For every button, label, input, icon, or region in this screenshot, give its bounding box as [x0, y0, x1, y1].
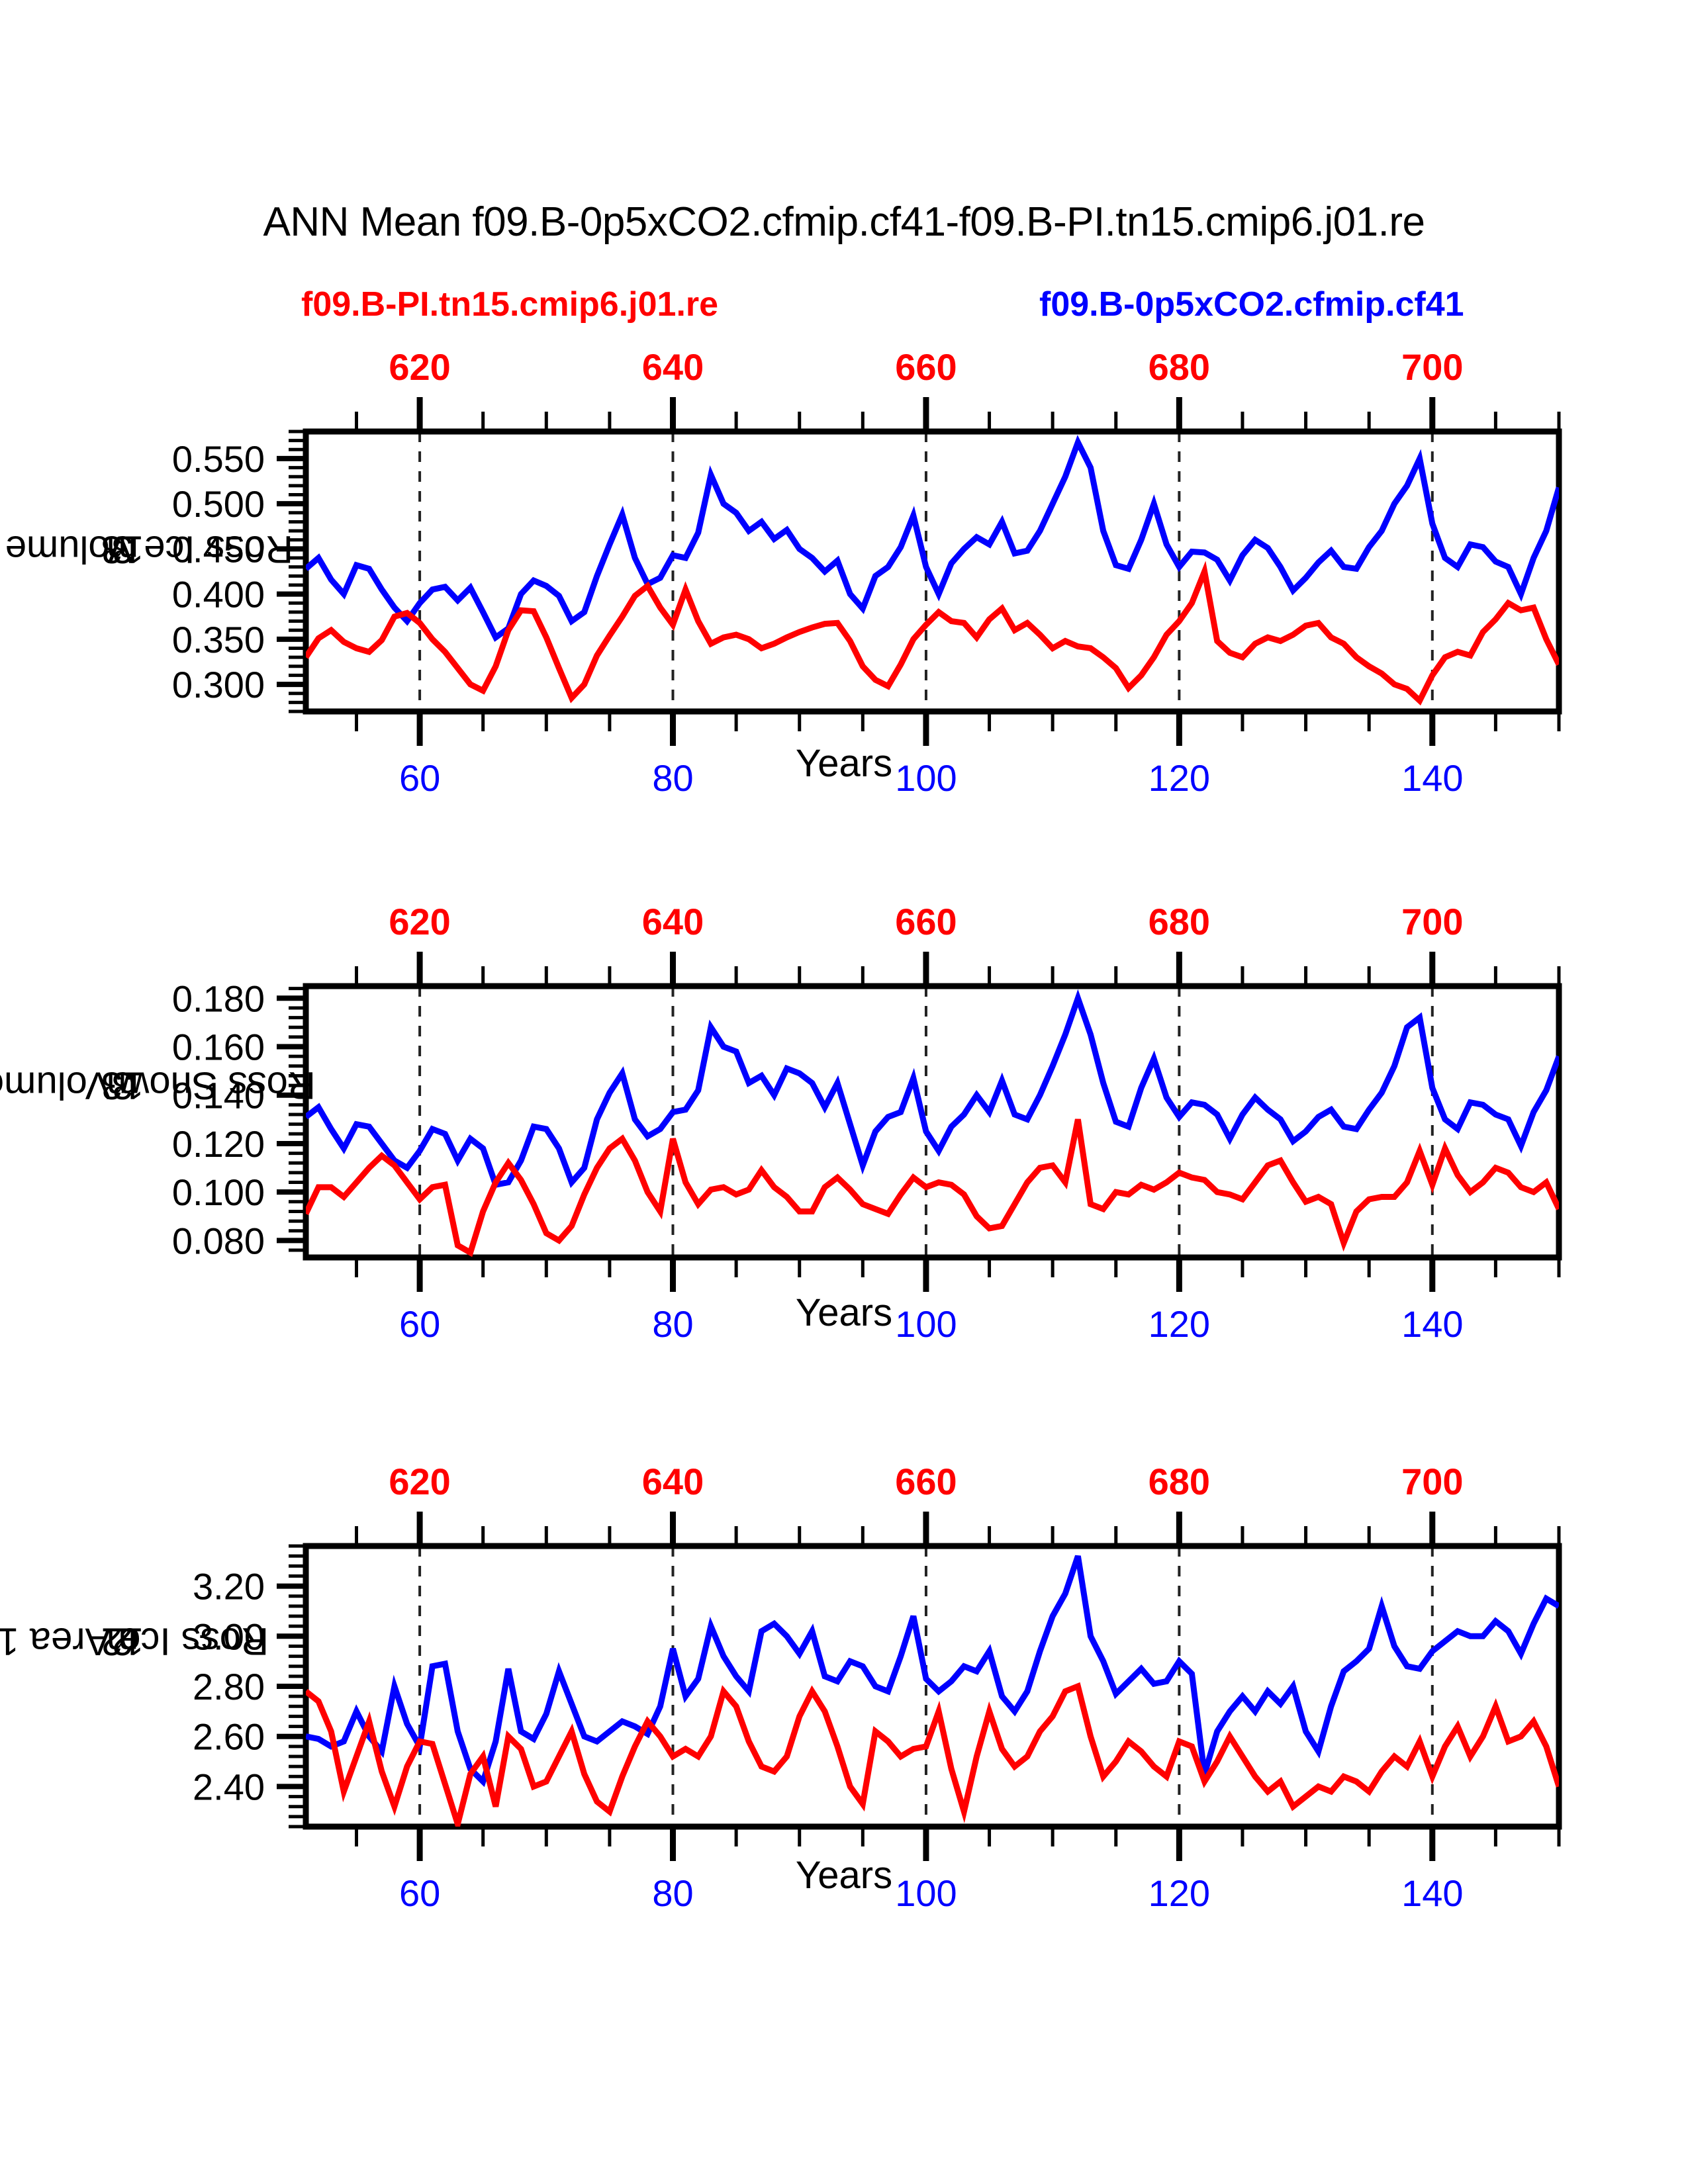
legend-label-blue: f09.B-0p5xCO2.cfmip.cf41 — [1039, 285, 1464, 324]
figure-title: ANN Mean f09.B-0p5xCO2.cfmip.cf41-f09.B-… — [0, 199, 1688, 246]
legend-label-red: f09.B-PI.tn15.cmip6.j01.re — [301, 285, 718, 324]
x-axis-label-panel-2: Years — [0, 1291, 1688, 1335]
x-axis-label-panel-1: Years — [0, 741, 1688, 786]
panel-ross-ice-area: Ross Ice Area 1012 m2 — [0, 1423, 1688, 1860]
figure-page: { "title": "ANN Mean f09.B-0p5xCO2.cfmip… — [0, 0, 1688, 2184]
y-axis-label: Ross Ice Volume 1013 m3 — [93, 331, 152, 768]
panel-ross-snow-volume: Ross Snow Volume 1013 m3 — [0, 867, 1688, 1304]
y-axis-label: Ross Ice Area 1012 m2 — [93, 1423, 152, 1860]
panel-ross-ice-volume: Ross Ice Volume 1013 m3 — [0, 331, 1688, 768]
legend: f09.B-PI.tn15.cmip6.j01.re f09.B-0p5xCO2… — [0, 285, 1688, 324]
y-axis-label: Ross Snow Volume 1013 m3 — [93, 867, 152, 1304]
x-axis-label-panel-3: Years — [0, 1853, 1688, 1897]
